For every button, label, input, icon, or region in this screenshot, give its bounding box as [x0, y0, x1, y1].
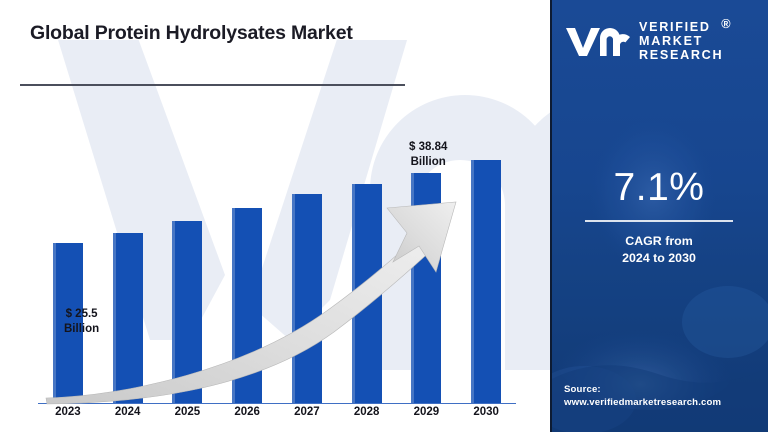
x-label-2027: 2027: [280, 406, 334, 418]
source-block: Source: www.verifiedmarketresearch.com: [564, 383, 721, 410]
bar-2026: [232, 208, 262, 403]
bar-chart: 20232024202520262027202820292030 $ 25.5 …: [0, 0, 550, 432]
bar-2029: [411, 173, 441, 403]
x-label-2023: 2023: [41, 406, 95, 418]
bar-highlight: [411, 173, 414, 403]
x-label-2026: 2026: [220, 406, 274, 418]
cagr-value: 7.1%: [614, 168, 705, 207]
x-label-2024: 2024: [101, 406, 155, 418]
vm-monogram-icon: [564, 24, 630, 58]
cagr-caption-line-2: 2024 to 2030: [622, 250, 696, 267]
cagr-block: 7.1% CAGR from 2024 to 2030: [550, 168, 768, 267]
bar-2024: [113, 233, 143, 403]
infographic-root: Global Protein Hydrolysates Market 20232…: [0, 0, 768, 432]
brand-logo-text: VERIFIED MARKET RESEARCH ®: [639, 20, 723, 62]
bar-highlight: [471, 160, 474, 403]
cagr-divider: [585, 220, 733, 222]
bar-2027: [292, 194, 322, 403]
brand-line-2: MARKET: [639, 34, 723, 48]
x-axis-labels: 20232024202520262027202820292030: [38, 406, 516, 430]
source-url[interactable]: www.verifiedmarketresearch.com: [564, 396, 721, 410]
bar-highlight: [53, 243, 56, 403]
x-label-2025: 2025: [160, 406, 214, 418]
branding-panel: VERIFIED MARKET RESEARCH ® 7.1% CAGR fro…: [550, 0, 768, 432]
brand-line-1: VERIFIED: [639, 20, 723, 34]
bar-highlight: [352, 184, 355, 403]
data-label-first: $ 25.5 Billion: [64, 307, 99, 336]
bar-highlight: [232, 208, 235, 403]
x-label-2029: 2029: [399, 406, 453, 418]
data-label-last-value: $ 38.84: [409, 140, 447, 155]
bar-2030: [471, 160, 501, 403]
cagr-caption: CAGR from 2024 to 2030: [622, 233, 696, 267]
data-label-first-unit: Billion: [64, 322, 99, 337]
chart-panel: Global Protein Hydrolysates Market 20232…: [0, 0, 550, 432]
bar-highlight: [172, 221, 175, 403]
bar-highlight: [292, 194, 295, 403]
bar-2025: [172, 221, 202, 403]
data-label-last-unit: Billion: [409, 155, 447, 170]
registered-trademark-icon: ®: [721, 17, 732, 31]
brand-logo[interactable]: VERIFIED MARKET RESEARCH ®: [550, 20, 768, 62]
bar-2028: [352, 184, 382, 403]
x-label-2030: 2030: [459, 406, 513, 418]
source-label: Source:: [564, 383, 721, 397]
cagr-caption-line-1: CAGR from: [622, 233, 696, 250]
x-label-2028: 2028: [340, 406, 394, 418]
x-axis-line: [38, 403, 516, 404]
bar-series: [38, 140, 516, 403]
data-label-first-value: $ 25.5: [64, 307, 99, 322]
brand-line-3: RESEARCH: [639, 48, 723, 62]
bar-highlight: [113, 233, 116, 403]
data-label-last: $ 38.84 Billion: [409, 140, 447, 169]
